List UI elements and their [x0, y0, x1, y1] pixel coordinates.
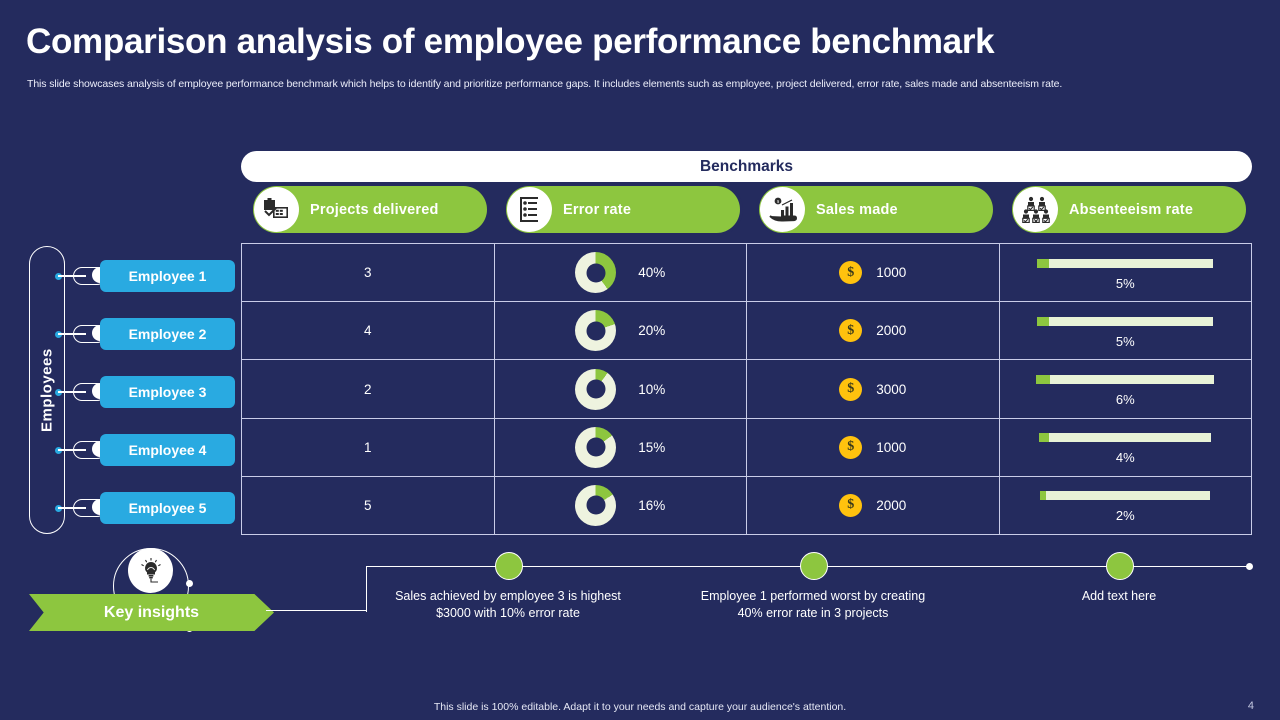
employee-chip[interactable]: Employee 4 [100, 434, 235, 466]
cell-absenteeism-rate: 6% [1000, 360, 1252, 417]
list-item[interactable]: Employee 2 [55, 318, 245, 350]
bar-track [1040, 491, 1210, 500]
table-row: 2 10% $ 3000 6% [242, 360, 1251, 418]
dollar-coin-icon: $ [839, 494, 862, 517]
bar-track [1039, 433, 1211, 442]
list-item[interactable]: Employee 4 [55, 434, 245, 466]
insight-text: Employee 1 performed worst by creating 4… [688, 588, 938, 622]
projects-value: 3 [364, 265, 372, 280]
column-header-sales-made[interactable]: $ Sales made [759, 186, 993, 233]
cell-absenteeism-rate: 5% [1000, 302, 1252, 359]
bar-track [1037, 317, 1213, 326]
insight-text: Sales achieved by employee 3 is highest … [383, 588, 633, 622]
connector-line [266, 610, 367, 611]
absenteeism-bar [1040, 491, 1210, 500]
cell-absenteeism-rate: 2% [1000, 477, 1252, 534]
cell-absenteeism-rate: 5% [1000, 244, 1252, 301]
employee-chip[interactable]: Employee 2 [100, 318, 235, 350]
bar-fill [1036, 375, 1050, 384]
column-header-absenteeism-rate[interactable]: Absenteeism rate [1012, 186, 1246, 233]
connector-line [366, 566, 367, 612]
bar-fill [1037, 317, 1049, 326]
list-item[interactable]: Employee 5 [55, 492, 245, 524]
timeline-node[interactable] [495, 552, 523, 580]
cell-error-rate: 40% [495, 244, 748, 301]
cell-sales-made: $ 1000 [747, 419, 1000, 476]
timeline-end-dot-icon [1246, 563, 1253, 570]
bar-track [1036, 375, 1214, 384]
dollar-coin-icon: $ [839, 261, 862, 284]
absenteeism-value: 6% [1116, 392, 1135, 407]
projects-value: 5 [364, 498, 372, 513]
bar-fill [1037, 259, 1049, 268]
projects-value: 4 [364, 323, 372, 338]
absenteeism-value: 5% [1116, 276, 1135, 291]
error-rate-value: 40% [638, 265, 665, 280]
people-checklist-icon [1013, 187, 1058, 232]
benchmark-table: 3 40% $ 1000 5% [241, 243, 1252, 535]
table-row: 5 16% $ 2000 2% [242, 477, 1251, 534]
absenteeism-value: 5% [1116, 334, 1135, 349]
key-insights-banner: Key insights [29, 594, 274, 631]
absenteeism-bar [1039, 433, 1211, 442]
column-header-label: Projects delivered [310, 202, 439, 218]
timeline-node[interactable] [1106, 552, 1134, 580]
error-rate-value: 10% [638, 382, 665, 397]
error-rate-value: 15% [638, 440, 665, 455]
sales-value: 3000 [876, 382, 906, 397]
key-insights-label: Key insights [104, 604, 199, 622]
slide-root: Comparison analysis of employee performa… [0, 0, 1280, 720]
column-header-label: Absenteeism rate [1069, 202, 1193, 218]
table-row: 1 15% $ 1000 4% [242, 419, 1251, 477]
error-rate-donut-icon [575, 427, 616, 468]
column-header-projects-delivered[interactable]: Projects delivered [253, 186, 487, 233]
cell-sales-made: $ 2000 [747, 302, 1000, 359]
benchmarks-banner: Benchmarks [241, 151, 1252, 182]
sales-value: 2000 [876, 323, 906, 338]
employee-chip[interactable]: Employee 1 [100, 260, 235, 292]
cell-absenteeism-rate: 4% [1000, 419, 1252, 476]
error-rate-donut-icon [575, 369, 616, 410]
cell-projects-delivered: 3 [242, 244, 495, 301]
error-rate-value: 20% [638, 323, 665, 338]
delivery-box-icon [254, 187, 299, 232]
cell-sales-made: $ 3000 [747, 360, 1000, 417]
benchmarks-banner-label: Benchmarks [700, 158, 793, 176]
document-list-icon [507, 187, 552, 232]
absenteeism-bar [1036, 375, 1214, 384]
cell-error-rate: 16% [495, 477, 748, 534]
sales-value: 1000 [876, 440, 906, 455]
absenteeism-value: 4% [1116, 450, 1135, 465]
column-header-label: Error rate [563, 202, 631, 218]
absenteeism-bar [1037, 259, 1213, 268]
sales-value: 1000 [876, 265, 906, 280]
dollar-coin-icon: $ [839, 319, 862, 342]
page-subtitle: This slide showcases analysis of employe… [27, 78, 1257, 90]
cell-sales-made: $ 1000 [747, 244, 1000, 301]
column-header-row: Projects delivered Error rate [241, 186, 1252, 236]
cell-error-rate: 20% [495, 302, 748, 359]
footer-divider [0, 690, 1280, 691]
hand-chart-icon: $ [760, 187, 805, 232]
employee-chip[interactable]: Employee 5 [100, 492, 235, 524]
cell-sales-made: $ 2000 [747, 477, 1000, 534]
absenteeism-bar [1037, 317, 1213, 326]
employee-chip[interactable]: Employee 3 [100, 376, 235, 408]
dollar-coin-icon: $ [839, 378, 862, 401]
error-rate-donut-icon [575, 310, 616, 351]
error-rate-value: 16% [638, 498, 665, 513]
table-row: 3 40% $ 1000 5% [242, 244, 1251, 302]
list-item[interactable]: Employee 3 [55, 376, 245, 408]
error-rate-donut-icon [575, 485, 616, 526]
table-row: 4 20% $ 2000 5% [242, 302, 1251, 360]
lightbulb-brain-icon [128, 548, 173, 593]
column-header-label: Sales made [816, 202, 898, 218]
sales-value: 2000 [876, 498, 906, 513]
bar-fill [1039, 433, 1048, 442]
projects-value: 2 [364, 382, 372, 397]
cell-projects-delivered: 5 [242, 477, 495, 534]
insight-text: Add text here [994, 588, 1244, 605]
error-rate-donut-icon [575, 252, 616, 293]
cell-error-rate: 10% [495, 360, 748, 417]
cell-error-rate: 15% [495, 419, 748, 476]
dollar-coin-icon: $ [839, 436, 862, 459]
cell-projects-delivered: 2 [242, 360, 495, 417]
projects-value: 1 [364, 440, 372, 455]
list-item[interactable]: Employee 1 [55, 260, 245, 292]
cell-projects-delivered: 1 [242, 419, 495, 476]
ring-dot-icon [186, 580, 193, 587]
bar-track [1037, 259, 1213, 268]
timeline-node[interactable] [800, 552, 828, 580]
footer-note: This slide is 100% editable. Adapt it to… [0, 701, 1280, 713]
absenteeism-value: 2% [1116, 508, 1135, 523]
page-title: Comparison analysis of employee performa… [26, 22, 994, 62]
employee-list: Employee 1 Employee 2 Employee 3 Employe… [55, 246, 245, 534]
bar-fill [1040, 491, 1046, 500]
column-header-error-rate[interactable]: Error rate [506, 186, 740, 233]
page-number: 4 [1248, 700, 1254, 712]
cell-projects-delivered: 4 [242, 302, 495, 359]
